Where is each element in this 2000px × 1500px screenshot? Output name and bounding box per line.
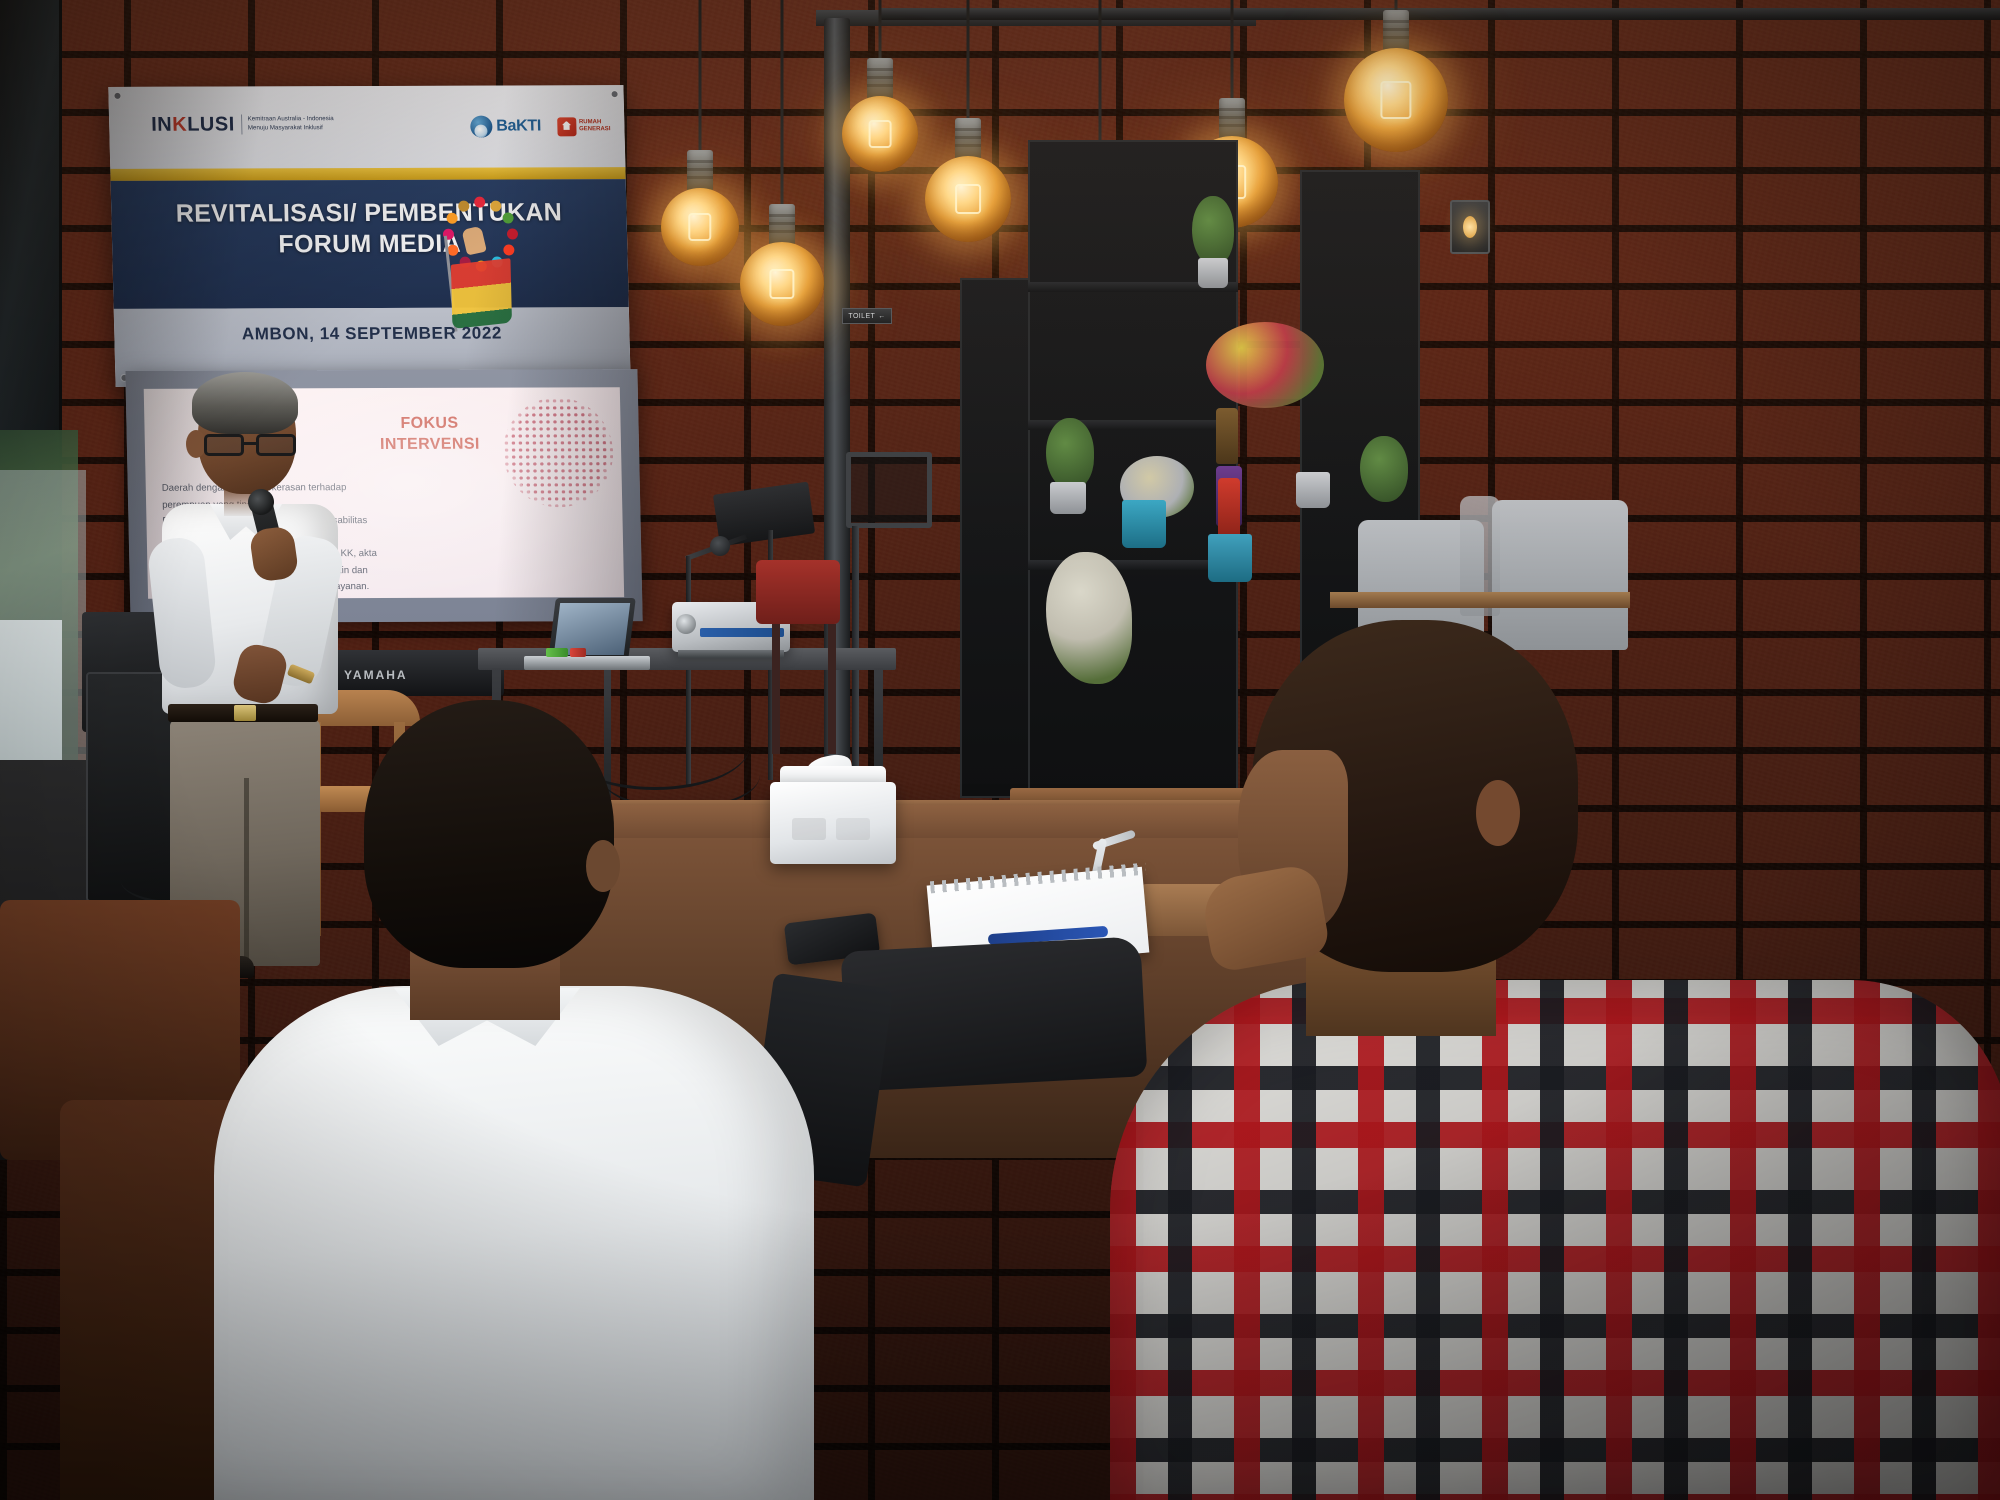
flag-graphic [451, 258, 512, 329]
light-cord [967, 0, 970, 120]
eyeglass-bridge [244, 442, 256, 445]
slide-heading-line1: FOKUS [354, 414, 504, 435]
flower-arrangement [1206, 322, 1324, 408]
tv-bracket-arm [852, 526, 859, 766]
vase [1208, 534, 1252, 582]
lantern-light [1450, 200, 1490, 254]
edison-bulb [1344, 48, 1448, 152]
toilet-sign-label: TOILET [848, 313, 875, 320]
plaid-shirt [1110, 980, 2000, 1500]
toilet-sign: TOILET ← [842, 308, 892, 324]
light-cord [1231, 0, 1234, 100]
tissue-box-panel [836, 818, 870, 840]
banner-date: AMBON, 14 SEPTEMBER 2022 [114, 323, 630, 345]
bulb-filament [1380, 81, 1411, 118]
inklusi-tagline-line2: Menuju Masyarakat Inklusif [248, 124, 334, 133]
inklusi-wordmark: INKLUSI [151, 114, 235, 134]
audience-member-white-shirt [214, 700, 814, 1500]
eyeglass-lens [204, 434, 244, 456]
inklusi-tagline: Kemitraan Australia - Indonesia Menuju M… [248, 115, 334, 133]
light-cord [879, 0, 882, 60]
plant-foliage [1046, 418, 1094, 490]
tv-wall-bracket [846, 452, 932, 528]
decor-bottle [1216, 408, 1238, 464]
projector-base [678, 650, 784, 658]
slide-heading-line2: INTERVENSI [355, 434, 505, 455]
light-socket [1383, 10, 1409, 52]
edison-bulb [661, 188, 739, 266]
banner-eyelet [114, 93, 120, 99]
usb-drive-green [546, 648, 568, 657]
chair-red-leg [828, 624, 836, 754]
inklusi-tagline-line1: Kemitraan Australia - Indonesia [248, 115, 334, 124]
edison-bulb [925, 156, 1011, 242]
presenter-ear [186, 430, 206, 458]
audience-white-shirt [214, 986, 814, 1500]
eyeglasses-icon [204, 434, 296, 456]
wall-pipe-horizontal [880, 8, 2000, 20]
slide-heading: FOKUS INTERVENSI [354, 414, 505, 456]
light-socket [1219, 98, 1245, 140]
banner-title-line1: REVITALISASI/ PEMBENTUKAN [119, 197, 619, 229]
light-socket [867, 58, 893, 100]
inklusi-logo: INKLUSI Kemitraan Australia - Indonesia … [151, 114, 334, 135]
eyeglass-lens [256, 434, 296, 456]
bulb-filament [955, 184, 981, 215]
planter-pot [1198, 258, 1228, 288]
laptop-base[interactable] [524, 656, 650, 670]
dining-table-right [1330, 592, 1630, 608]
planter-pot [1296, 472, 1330, 508]
planter-pot [1050, 482, 1086, 514]
edison-bulb [842, 96, 918, 172]
partner-logo-row: BaKTI RUMAH GENERASI [470, 115, 611, 137]
light-socket [769, 204, 795, 246]
logo-divider [241, 114, 242, 134]
bakti-wordmark: BaKTI [496, 117, 541, 135]
banner-title-line2: FORUM MEDIA [120, 228, 620, 260]
projector-lens-icon [676, 614, 696, 634]
presenter-hair [192, 372, 298, 434]
arrow-left-icon: ← [878, 313, 885, 320]
rg-line2: GENERASI [579, 126, 611, 133]
inklusi-word-b: LUSI [187, 113, 235, 135]
edison-bulb [740, 242, 824, 326]
usb-drive-red [570, 648, 586, 657]
bulb-filament [869, 120, 892, 147]
light-cord [1099, 0, 1102, 158]
house-icon [557, 117, 576, 136]
light-socket [687, 150, 713, 192]
inklusi-word-k: K [172, 114, 187, 136]
plaid-shading [1110, 980, 2000, 1500]
event-banner: INKLUSI Kemitraan Australia - Indonesia … [108, 85, 630, 387]
banner-eyelet [612, 91, 618, 97]
bakti-mark-icon [470, 116, 493, 138]
light-cord [781, 0, 784, 206]
light-socket [955, 118, 981, 160]
rumah-generasi-logo: RUMAH GENERASI [557, 117, 611, 136]
vase [1122, 500, 1166, 548]
rumah-generasi-wordmark: RUMAH GENERASI [579, 120, 611, 133]
microphone-head-icon [710, 536, 730, 556]
photo-scene: TOILET ← INKLUSI Kemitraan Australia - I… [0, 0, 2000, 1500]
bakti-logo: BaKTI [470, 115, 541, 137]
plant-foliage [1192, 196, 1234, 266]
audience-ear [586, 840, 620, 892]
bulb-filament [769, 269, 794, 299]
red-chair [756, 560, 840, 624]
banner-title: REVITALISASI/ PEMBENTUKAN FORUM MEDIA [111, 197, 628, 260]
bulb-filament [688, 213, 711, 241]
inklusi-word-a: IN [151, 114, 173, 136]
plant-foliage [1360, 436, 1408, 502]
audience2-ear [1476, 780, 1520, 846]
audience-head [364, 700, 614, 968]
audience-member-plaid-shirt [1120, 620, 2000, 1500]
light-cord [699, 0, 702, 152]
